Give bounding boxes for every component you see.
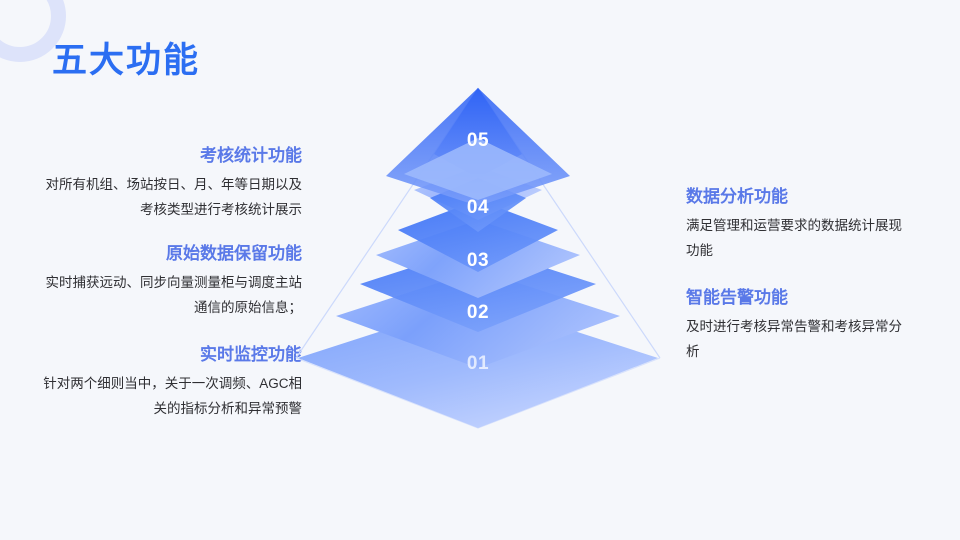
feature-body: 实时捕获远动、同步向量测量柜与调度主站通信的原始信息；	[40, 271, 302, 321]
feature-heading: 数据分析功能	[686, 185, 914, 209]
feature-body: 及时进行考核异常告警和考核异常分析	[686, 315, 914, 365]
feature-block-realtime-monitoring: 实时监控功能 针对两个细则当中，关于一次调频、AGC相关的指标分析和异常预警	[40, 343, 302, 422]
feature-block-data-analysis: 数据分析功能 满足管理和运营要求的数据统计展现功能	[686, 185, 914, 264]
feature-block-assessment-statistics: 考核统计功能 对所有机组、场站按日、月、年等日期以及考核类型进行考核统计展示	[40, 144, 302, 223]
feature-heading: 考核统计功能	[40, 144, 302, 168]
page-title: 五大功能	[52, 40, 200, 82]
feature-block-smart-alarm: 智能告警功能 及时进行考核异常告警和考核异常分析	[686, 286, 914, 365]
feature-body: 对所有机组、场站按日、月、年等日期以及考核类型进行考核统计展示	[40, 173, 302, 223]
pyramid-diagram: 05 04 03 02 01	[290, 80, 670, 440]
feature-body: 针对两个细则当中，关于一次调频、AGC相关的指标分析和异常预警	[40, 372, 302, 422]
pyramid-svg	[290, 80, 670, 440]
feature-heading: 原始数据保留功能	[40, 242, 302, 266]
feature-body: 满足管理和运营要求的数据统计展现功能	[686, 214, 914, 264]
feature-heading: 智能告警功能	[686, 286, 914, 310]
feature-heading: 实时监控功能	[40, 343, 302, 367]
feature-block-raw-data-retention: 原始数据保留功能 实时捕获远动、同步向量测量柜与调度主站通信的原始信息；	[40, 242, 302, 321]
